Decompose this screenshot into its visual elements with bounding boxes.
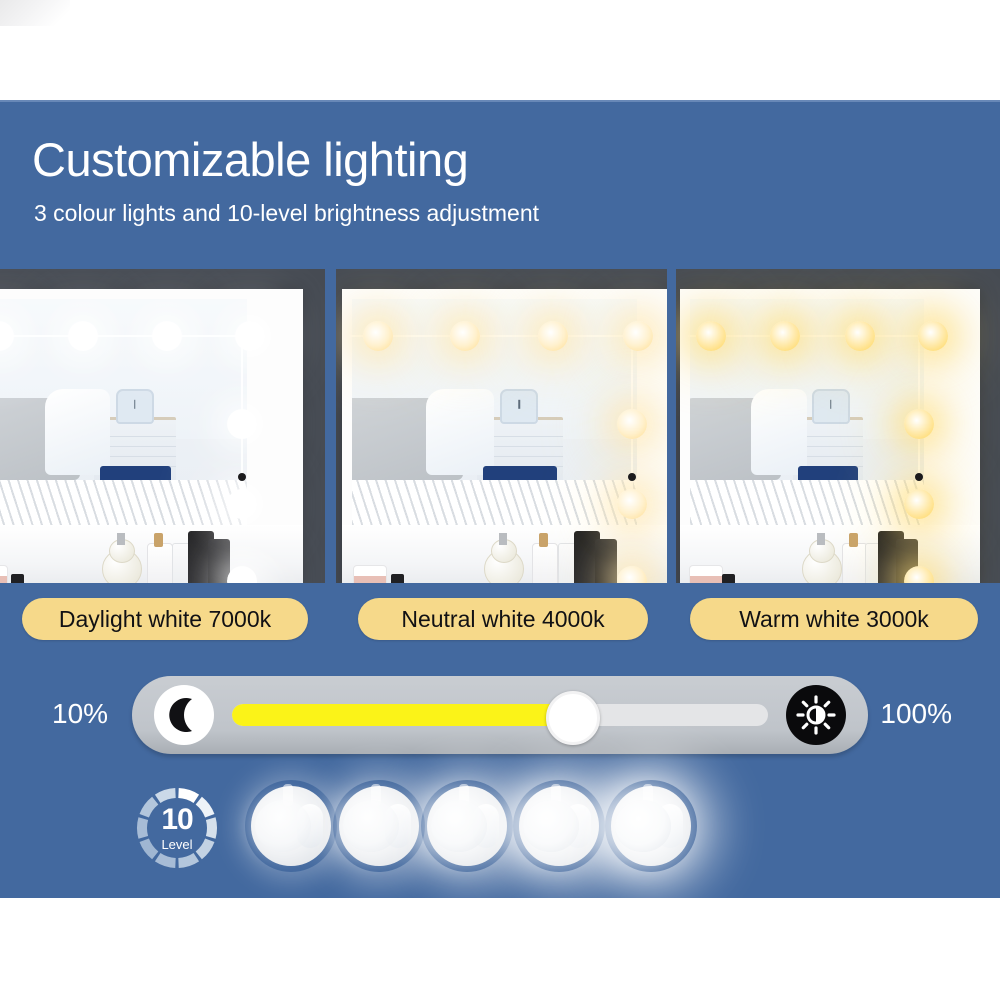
- level-badge-number: 10: [161, 805, 192, 835]
- vanity-mirror-scene: [676, 269, 1000, 583]
- alarm-clock: [500, 389, 538, 424]
- led-plug: [238, 473, 246, 481]
- led-bulb: [227, 489, 257, 519]
- brightness-track-fill: [232, 704, 570, 726]
- label-text: Daylight white 7000k: [59, 606, 271, 633]
- black-cap: [11, 574, 24, 583]
- brightness-max-label: 100%: [880, 698, 952, 730]
- patterned-bedsheet: [352, 480, 637, 525]
- white-pillow: [45, 389, 111, 475]
- pump-bottle: [147, 533, 171, 583]
- led-wire: [350, 335, 641, 337]
- lamp-sample-2: [333, 780, 425, 872]
- label-neutral-white: Neutral white 4000k: [358, 598, 648, 640]
- light-mode-photo-daylight: [0, 269, 325, 583]
- vanity-desk-surface: [0, 525, 303, 583]
- page-title: Customizable lighting: [32, 136, 932, 183]
- alarm-clock: [116, 389, 154, 424]
- black-cap: [391, 574, 404, 583]
- black-tube: [595, 539, 617, 583]
- led-bulb: [363, 321, 393, 351]
- mirror-frame: [680, 289, 980, 583]
- mirror-reflection: [352, 299, 637, 525]
- led-bulb: [617, 489, 647, 519]
- label-text: Warm white 3000k: [739, 606, 929, 633]
- led-wire: [0, 335, 251, 337]
- patterned-bedsheet: [0, 480, 247, 525]
- led-bulb: [68, 321, 98, 351]
- perfume-bottle: [100, 535, 142, 583]
- sun-icon[interactable]: [786, 685, 846, 745]
- lamp-dome: [523, 800, 579, 852]
- moon-icon[interactable]: [154, 685, 214, 745]
- panel-top-highlight: [0, 100, 1000, 102]
- black-cap: [722, 574, 735, 583]
- led-bulb: [904, 489, 934, 519]
- pump-bottle: [532, 533, 556, 583]
- label-warm-white: Warm white 3000k: [690, 598, 978, 640]
- promo-page: Customizable lighting 3 colour lights an…: [0, 0, 1000, 1000]
- led-bulb: [227, 409, 257, 439]
- light-mode-photo-neutral: [336, 269, 667, 583]
- led-bulb: [904, 409, 934, 439]
- level-badge: 10 Level: [133, 784, 221, 872]
- alarm-clock: [812, 389, 850, 424]
- page-corner-shading: [0, 0, 70, 26]
- led-bulb: [623, 321, 653, 351]
- vanity-desk-surface: [680, 525, 980, 583]
- led-bulb: [845, 321, 875, 351]
- brightness-thumb[interactable]: [546, 691, 600, 745]
- lamp-dome: [431, 800, 487, 852]
- white-pillow: [426, 389, 494, 475]
- brightness-min-label: 10%: [52, 698, 108, 730]
- patterned-bedsheet: [690, 480, 924, 525]
- blue-content-panel: Customizable lighting 3 colour lights an…: [0, 100, 1000, 898]
- powder-jar: [689, 565, 723, 583]
- led-bulb: [538, 321, 568, 351]
- led-bulb: [696, 321, 726, 351]
- mirror-frame: [342, 289, 667, 583]
- mirror-frame: [0, 289, 303, 583]
- vanity-mirror-scene: [336, 269, 667, 583]
- pump-bottle: [842, 533, 866, 583]
- lamp-dome: [255, 800, 311, 852]
- lamp-dome: [343, 800, 399, 852]
- perfume-bottle: [800, 535, 842, 583]
- light-mode-gallery: [0, 269, 1000, 583]
- led-bulb: [918, 321, 948, 351]
- label-daylight-white: Daylight white 7000k: [22, 598, 308, 640]
- led-bulb: [617, 409, 647, 439]
- lamp-sample-3: [421, 780, 513, 872]
- lamp-dome: [615, 800, 671, 852]
- level-badge-caption: Level: [161, 838, 192, 851]
- led-plug: [915, 473, 923, 481]
- lamp-sample-1: [245, 780, 337, 872]
- perfume-bottle: [482, 535, 524, 583]
- led-plug: [628, 473, 636, 481]
- led-bulb: [235, 321, 265, 351]
- heading-block: Customizable lighting 3 colour lights an…: [32, 136, 932, 226]
- mirror-reflection: [0, 299, 247, 525]
- label-text: Neutral white 4000k: [401, 606, 604, 633]
- page-subtitle: 3 colour lights and 10-level brightness …: [34, 201, 932, 226]
- white-pillow: [751, 389, 807, 475]
- light-mode-photo-warm: [676, 269, 1000, 583]
- powder-jar: [353, 565, 387, 583]
- brightness-slider-row: 10% 100%: [0, 672, 1000, 762]
- brightness-track[interactable]: [232, 704, 768, 726]
- vanity-mirror-scene: [0, 269, 325, 583]
- lamp-sample-5: [605, 780, 697, 872]
- lamp-sample-4: [513, 780, 605, 872]
- brightness-slider[interactable]: [132, 676, 868, 754]
- powder-jar: [0, 565, 8, 583]
- brightness-level-row: 10 Level: [0, 780, 1000, 880]
- light-mode-labels: Daylight white 7000k Neutral white 4000k…: [0, 598, 1000, 642]
